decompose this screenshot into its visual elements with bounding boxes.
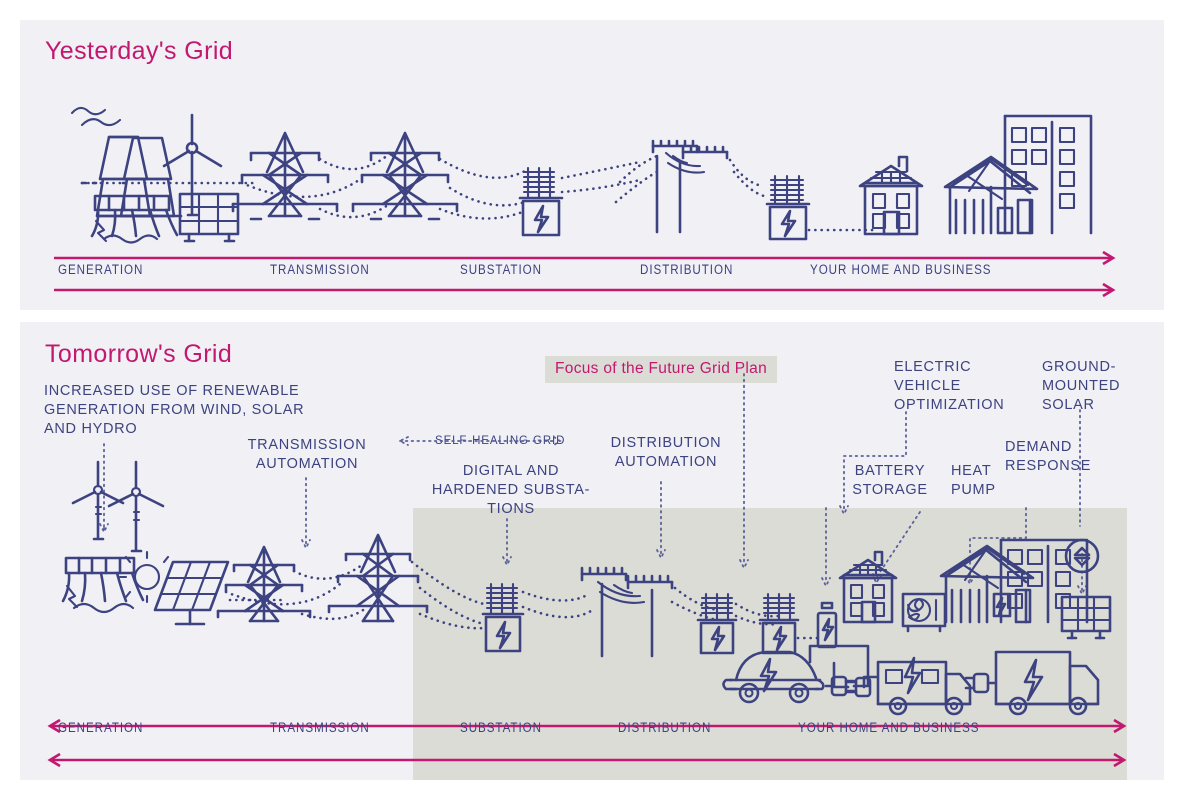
stage-label-substation: SUBSTATION	[460, 262, 542, 277]
plug-icon-2	[834, 663, 876, 696]
power-line	[320, 155, 388, 169]
power-line	[616, 170, 660, 202]
wind-turbine-icon-2	[109, 462, 163, 551]
stage-label-home-business: YOUR HOME AND BUSINESS	[798, 720, 979, 735]
power-line	[620, 156, 657, 182]
transformer-icon-2	[760, 594, 798, 653]
transformer-icon	[767, 176, 809, 239]
utility-pole-icon	[582, 568, 672, 656]
leader-ev-optimization-left	[844, 412, 906, 510]
transmission-tower-icon-2	[329, 535, 427, 621]
stage-label-distribution: DISTRIBUTION	[618, 720, 711, 735]
stage-label-substation: SUBSTATION	[460, 720, 542, 735]
electric-truck-icon	[996, 652, 1098, 714]
smoke-icon	[72, 108, 120, 125]
stage-label-transmission: TRANSMISSION	[270, 262, 370, 277]
electric-car-icon	[724, 652, 824, 702]
house-icon	[840, 552, 896, 622]
plug-icon-3	[966, 674, 994, 692]
heat-pump-icon	[903, 594, 945, 631]
hydro-dam-icon	[63, 558, 143, 612]
yesterday-diagram-canvas	[20, 20, 1164, 310]
tomorrow-diagram-canvas	[20, 322, 1164, 780]
transformer-icon-1	[698, 594, 736, 653]
stage-label-generation: GENERATION	[58, 262, 143, 277]
power-line	[523, 592, 589, 601]
solar-panel-icon	[180, 194, 238, 241]
apartment-tower-icon	[1001, 540, 1087, 622]
transmission-tower-icon-1	[218, 547, 310, 621]
hydro-dam-icon	[92, 196, 177, 243]
power-line	[242, 178, 362, 197]
power-line	[302, 608, 366, 619]
battery-icon	[818, 603, 836, 647]
power-line	[450, 188, 525, 205]
stage-arrow-bottom	[54, 284, 1113, 296]
transmission-tower-icon-2	[353, 133, 457, 219]
house-icon	[860, 157, 922, 234]
power-line	[420, 588, 484, 624]
power-line	[440, 209, 525, 219]
stage-label-home-business: YOUR HOME AND BUSINESS	[810, 262, 991, 277]
power-line	[440, 159, 525, 178]
stage-arrow-bottom	[50, 754, 1124, 766]
panel-tomorrows-grid: Tomorrow's Grid Focus of the Future Grid…	[20, 322, 1164, 780]
substation-icon	[520, 168, 562, 235]
power-line	[523, 607, 591, 617]
power-line	[412, 562, 484, 604]
power-line	[672, 602, 717, 620]
power-line	[736, 604, 778, 616]
stage-label-generation: GENERATION	[58, 720, 143, 735]
power-line	[562, 162, 640, 178]
panel-yesterdays-grid: Yesterday's Grid	[20, 20, 1164, 310]
substation-icon	[483, 584, 523, 651]
utility-pole-icon	[653, 141, 727, 232]
electric-van-icon	[878, 658, 970, 714]
stage-label-distribution: DISTRIBUTION	[640, 262, 733, 277]
power-line	[734, 172, 764, 196]
power-line	[562, 180, 640, 192]
transmission-tower-icon-1	[233, 133, 337, 219]
wind-turbine-icon-1	[73, 462, 123, 539]
commercial-building-icon	[941, 546, 1033, 622]
commercial-building-icon	[945, 157, 1037, 233]
stage-label-transmission: TRANSMISSION	[270, 720, 370, 735]
